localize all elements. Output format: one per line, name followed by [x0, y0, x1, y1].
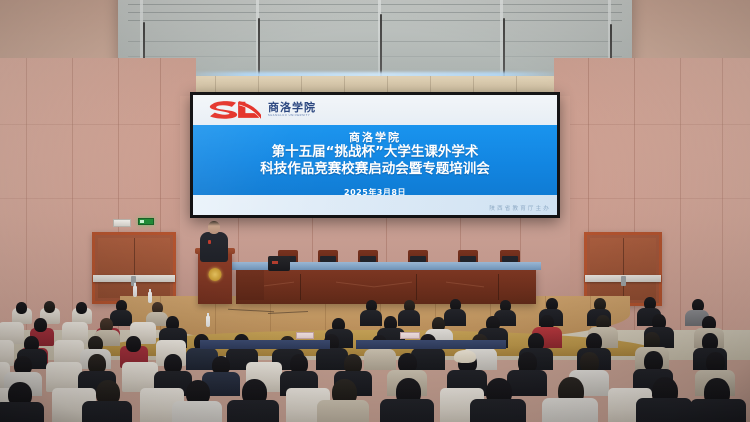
- university-logo: 商洛学院 SHANGLUO UNIVERSITY: [209, 99, 316, 120]
- slide-watermark: 陕西省教育厅主办: [489, 204, 551, 212]
- door-handle[interactable]: [621, 276, 626, 286]
- front-desk: [200, 340, 330, 349]
- projection-screen: 商洛学院 SHANGLUO UNIVERSITY 商洛学院 第十五届“挑战杯”大…: [190, 92, 560, 218]
- auditorium-photo: 商洛学院 SHANGLUO UNIVERSITY 商洛学院 第十五届“挑战杯”大…: [0, 0, 750, 422]
- slide-footer-band: 陕西省教育厅主办: [193, 195, 557, 215]
- seated-audience: [0, 296, 750, 422]
- university-crest-icon: [209, 268, 222, 281]
- front-desk: [356, 340, 506, 349]
- logo-institution-en: SHANGLUO UNIVERSITY: [268, 115, 316, 118]
- slide-title-line-3: 科技作品竞赛校赛启动会暨专题培训会: [193, 161, 557, 177]
- slide-header-band: 商洛学院 SHANGLUO UNIVERSITY: [193, 95, 557, 125]
- emergency-exit-sign: [138, 218, 154, 225]
- sl-monogram-logo: [209, 99, 261, 120]
- slide-title-line-2: 第十五届“挑战杯”大学生课外学术: [193, 144, 557, 160]
- slide-title-block: 商洛学院 第十五届“挑战杯”大学生课外学术 科技作品竞赛校赛启动会暨专题培训会: [193, 131, 557, 177]
- presenter-at-podium: [199, 221, 229, 261]
- logo-institution-cn: 商洛学院: [268, 102, 316, 113]
- name-placard: [400, 332, 420, 339]
- slide-body: 商洛学院 第十五届“挑战杯”大学生课外学术 科技作品竞赛校赛启动会暨专题培训会 …: [193, 125, 557, 195]
- name-placard: [296, 332, 314, 339]
- presentation-laptop[interactable]: [268, 256, 290, 271]
- slide-title-line-1: 商洛学院: [193, 131, 557, 144]
- door-right[interactable]: [584, 232, 662, 306]
- baseball-cap: [454, 350, 476, 363]
- lapel-badge: [208, 240, 211, 244]
- wall-light-fixture: [113, 219, 131, 227]
